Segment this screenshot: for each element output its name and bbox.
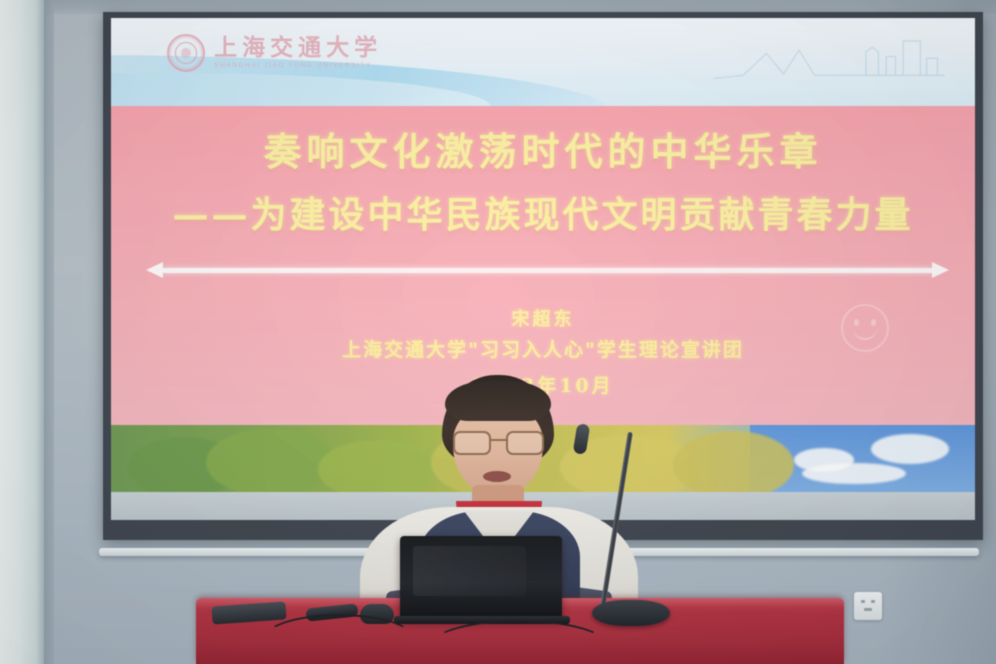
presenter-organization: 上海交通大学"习习入人心"学生理论宣讲团 — [111, 335, 975, 362]
arrow-line — [162, 268, 934, 273]
double-arrow-divider-icon — [146, 262, 950, 278]
cable — [432, 620, 606, 664]
presenter-name: 宋超东 — [111, 305, 975, 331]
presenter-mouth — [483, 471, 511, 482]
glasses-lens-left — [453, 431, 491, 455]
glasses-lens-right — [506, 431, 544, 455]
wall-power-socket-icon[interactable] — [854, 592, 882, 620]
laptop-screen-back[interactable] — [400, 536, 562, 620]
university-name-en: SHANGHAI JIAO TONG UNIVERSITY — [214, 62, 382, 69]
university-logo: 上海交通大学 SHANGHAI JIAO TONG UNIVERSITY — [167, 34, 382, 72]
cloud-shape — [871, 434, 949, 464]
presenter-hair-fringe — [445, 381, 551, 421]
foliage-shape — [206, 429, 336, 493]
arrow-head-right-icon — [932, 262, 949, 278]
lecture-room-photo: 上海交通大学 SHANGHAI JIAO TONG UNIVERSITY — [0, 0, 996, 664]
cloud-shape — [802, 463, 906, 485]
sjtu-seal-icon — [167, 34, 205, 72]
glasses-icon — [451, 431, 546, 451]
foliage-shape — [673, 431, 794, 492]
sjtu-campus-outline-icon — [712, 30, 945, 85]
slide-title-main: 奏响文化激荡时代的中华乐章 — [111, 121, 975, 176]
slide-header-band: 上海交通大学 SHANGHAI JIAO TONG UNIVERSITY — [111, 18, 975, 106]
slide-title-sub: ——为建设中华民族现代文明贡献青春力量 — [111, 186, 975, 238]
cable — [262, 614, 416, 664]
microphone-base — [592, 600, 670, 626]
wall-left-column — [0, 0, 46, 664]
arrow-head-left-icon — [146, 262, 163, 278]
wall-seam — [44, 0, 54, 664]
university-name: 上海交通大学 — [214, 36, 382, 60]
